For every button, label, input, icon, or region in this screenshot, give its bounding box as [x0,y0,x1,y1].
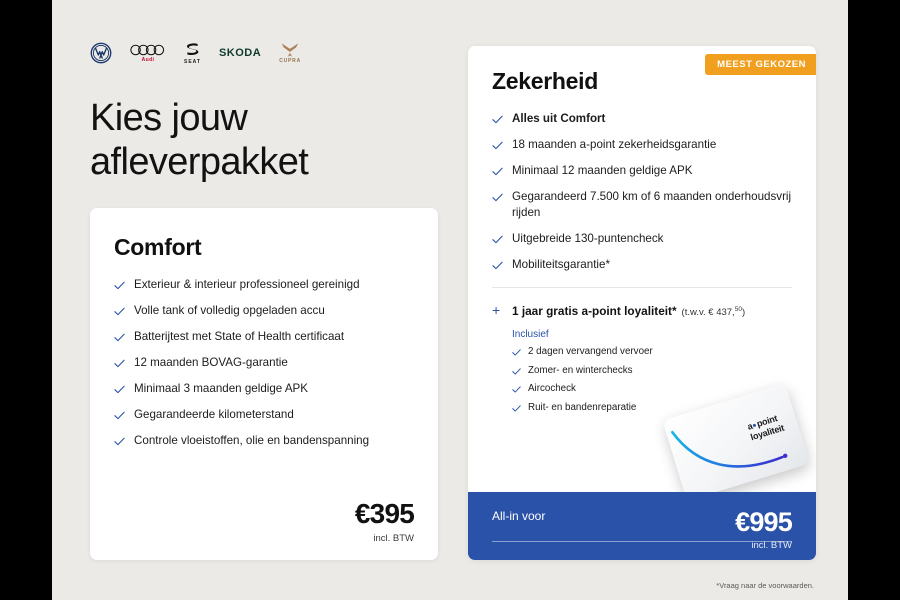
list-item: Alles uit Comfort [492,111,792,127]
list-item: Zomer- en winterchecks [512,365,792,378]
page-footnote: *Vraag naar de voorwaarden. [716,581,814,590]
page-title-line-2: afleverpakket [90,141,308,183]
zekerheid-price-block: €995 incl. BTW [735,509,792,551]
comfort-feature-list: Exterieur & interieur professioneel gere… [114,277,414,449]
check-icon [492,166,503,177]
check-icon [114,332,125,343]
list-item: Mobiliteitsgarantie* [492,257,792,273]
brand-logo-bar: Audi SEAT SKODA CUPRA [90,36,301,70]
loyalty-value-cents: 50 [735,306,742,313]
volkswagen-logo-icon [90,42,112,64]
check-icon [492,140,503,151]
letterbox-left [0,0,52,600]
zekerheid-feature-list: Alles uit Comfort 18 maanden a-point zek… [492,111,792,273]
seat-logo-icon: SEAT [184,42,201,65]
loyalty-value-prefix: (t.w.v. € 437, [682,307,735,318]
list-item: Exterieur & interieur professioneel gere… [114,277,414,293]
zekerheid-price-footer: All-in voor €995 incl. BTW [468,492,816,560]
list-item-label: 18 maanden a-point zekerheidsgarantie [512,137,716,153]
check-icon [114,280,125,291]
comfort-title: Comfort [114,234,414,261]
list-item: Controle vloeistoffen, olie en bandenspa… [114,433,414,449]
list-item-label: Volle tank of volledig opgeladen accu [134,303,325,319]
letterbox-right [848,0,900,600]
comfort-price: €395 [355,500,414,528]
list-item: Batterijtest met State of Health certifi… [114,329,414,345]
cupra-logo-icon: CUPRA [279,42,301,64]
footer-inner: All-in voor €995 incl. BTW [492,492,792,560]
check-icon [512,367,521,376]
check-icon [114,436,125,447]
list-item: Gegarandeerde kilometerstand [114,407,414,423]
zekerheid-body: Zekerheid Alles uit Comfort 18 maanden a… [468,46,816,273]
list-item: 2 dagen vervangend vervoer [512,346,792,359]
package-card-zekerheid[interactable]: MEEST GEKOZEN Zekerheid Alles uit Comfor… [468,46,816,560]
promo-canvas: Audi SEAT SKODA CUPRA Kies jouw aflev [52,0,848,600]
comfort-price-note: incl. BTW [355,533,414,544]
status-badge: MEEST GEKOZEN [705,54,816,75]
seat-wordmark: SEAT [184,60,201,65]
check-icon [114,358,125,369]
list-item-label: Uitgebreide 130-puntencheck [512,231,663,247]
allin-label: All-in voor [492,509,545,523]
page-title-line-1: Kies jouw [90,97,247,139]
loyalty-addon-row: + 1 jaar gratis a-point loyaliteit*(t.w.… [468,288,816,320]
package-card-comfort[interactable]: Comfort Exterieur & interieur profession… [90,208,438,560]
cupra-wordmark: CUPRA [279,59,301,64]
list-item: Gegarandeerd 7.500 km of 6 maanden onder… [492,189,792,221]
list-item-label: Aircocheck [528,383,576,396]
list-item-label: Gegarandeerd 7.500 km of 6 maanden onder… [512,189,792,221]
loyalty-value-suffix: ) [742,307,745,318]
list-item: 12 maanden BOVAG-garantie [114,355,414,371]
list-item: Minimaal 3 maanden geldige APK [114,381,414,397]
check-icon [114,410,125,421]
loyalty-value: (t.w.v. € 437,50) [682,307,746,318]
audi-logo-icon: Audi [130,43,166,63]
list-item: Uitgebreide 130-puntencheck [492,231,792,247]
check-icon [512,385,521,394]
skoda-wordmark: SKODA [219,47,261,59]
inclusief-label: Inclusief [512,329,792,340]
list-item-label: Gegarandeerde kilometerstand [134,407,294,423]
check-icon [492,234,503,245]
screenshot-stage: Audi SEAT SKODA CUPRA Kies jouw aflev [0,0,900,600]
audi-wordmark: Audi [142,58,155,63]
list-item-label: Exterieur & interieur professioneel gere… [134,277,360,293]
list-item-label: Zomer- en winterchecks [528,365,633,378]
page-title: Kies jouw afleverpakket [90,96,430,185]
list-item-label: Mobiliteitsgarantie* [512,257,610,273]
check-icon [114,384,125,395]
list-item-label: Controle vloeistoffen, olie en bandenspa… [134,433,369,449]
list-item: 18 maanden a-point zekerheidsgarantie [492,137,792,153]
list-item-label: Batterijtest met State of Health certifi… [134,329,344,345]
skoda-logo-icon: SKODA [219,47,261,59]
list-item: Minimaal 12 maanden geldige APK [492,163,792,179]
list-item-label: Minimaal 12 maanden geldige APK [512,163,692,179]
check-icon [492,114,503,125]
list-item-label: 12 maanden BOVAG-garantie [134,355,288,371]
list-item-label: Minimaal 3 maanden geldige APK [134,381,308,397]
check-icon [512,404,521,413]
list-item: Volle tank of volledig opgeladen accu [114,303,414,319]
list-item-label: Ruit- en bandenreparatie [528,402,636,415]
check-icon [114,306,125,317]
zekerheid-price: €995 [735,509,792,536]
check-icon [492,192,503,203]
footer-rule [492,541,792,542]
list-item-label: 2 dagen vervangend vervoer [528,346,653,359]
list-item-label: Alles uit Comfort [512,111,605,127]
plus-icon: + [492,303,503,317]
check-icon [492,260,503,271]
check-icon [512,348,521,357]
comfort-price-block: €395 incl. BTW [355,500,414,544]
loyalty-title: 1 jaar gratis a-point loyaliteit* [512,304,677,318]
